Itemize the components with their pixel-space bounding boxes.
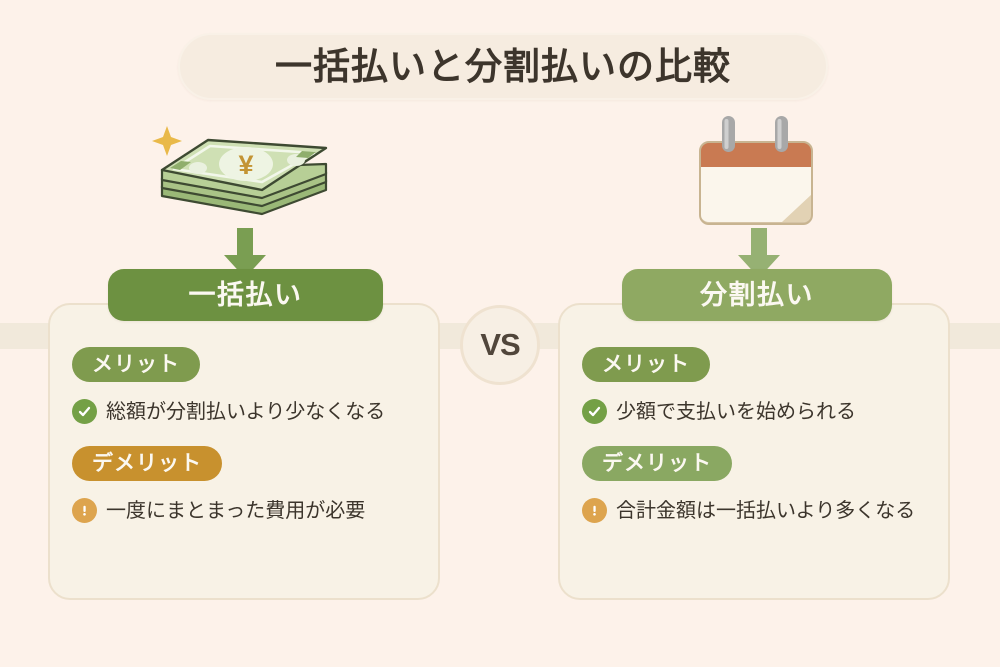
demerit-text: 一度にまとまった費用が必要 — [106, 500, 365, 522]
merit-point: 少額で支払いを始められる — [582, 399, 948, 424]
page-title-pill: 一括払いと分割払いの比較 — [178, 33, 828, 100]
merit-badge-wrap: メリット — [72, 347, 438, 382]
demerit-badge-wrap: デメリット — [72, 446, 438, 481]
card-header-label: 分割払い — [700, 282, 814, 309]
card-lump-sum: 一括払い メリット 総額が分割払いより少なくなる デメリット 一度にまとまった費… — [48, 303, 440, 600]
money-stack-icon: ¥ — [150, 118, 330, 228]
demerit-text: 合計金額は一括払いより多くなる — [616, 500, 915, 522]
warning-circle-icon — [72, 498, 97, 523]
demerit-badge-wrap: デメリット — [582, 446, 948, 481]
page-title: 一括払いと分割払いの比較 — [275, 48, 731, 85]
demerit-point: 一度にまとまった費用が必要 — [72, 498, 438, 523]
merit-point: 総額が分割払いより少なくなる — [72, 399, 438, 424]
vs-badge: VS — [460, 305, 540, 385]
merit-badge: メリット — [72, 347, 200, 382]
card-header-label: 一括払い — [189, 282, 303, 309]
card-installment: 分割払い メリット 少額で支払いを始められる デメリット 合計金額は一括払いより… — [558, 303, 950, 600]
check-circle-icon — [582, 399, 607, 424]
calendar-icon — [690, 112, 820, 227]
card-header-installment: 分割払い — [622, 269, 892, 321]
merit-badge-wrap: メリット — [582, 347, 948, 382]
merit-badge: メリット — [582, 347, 710, 382]
demerit-badge: デメリット — [72, 446, 222, 481]
merit-text: 少額で支払いを始められる — [616, 401, 856, 423]
check-circle-icon — [72, 399, 97, 424]
infographic-canvas: 一括払いと分割払いの比較 ¥ — [0, 0, 1000, 667]
svg-text:¥: ¥ — [238, 150, 253, 180]
demerit-badge: デメリット — [582, 446, 732, 481]
card-header-lump-sum: 一括払い — [108, 269, 383, 321]
merit-text: 総額が分割払いより少なくなる — [106, 401, 385, 423]
warning-circle-icon — [582, 498, 607, 523]
card-body-lump-sum: メリット 総額が分割払いより少なくなる デメリット 一度にまとまった費用が必要 — [50, 305, 438, 523]
vs-label: VS — [480, 327, 519, 363]
card-body-installment: メリット 少額で支払いを始められる デメリット 合計金額は一括払いより多くなる — [560, 305, 948, 523]
demerit-point: 合計金額は一括払いより多くなる — [582, 498, 948, 523]
